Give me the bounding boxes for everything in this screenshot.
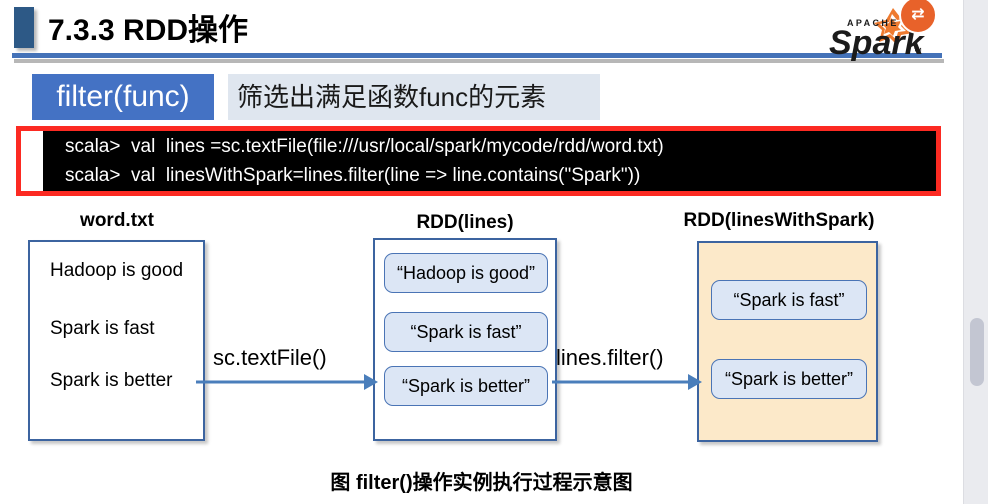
rdd-lineswithspark-title: RDD(linesWithSpark) <box>660 210 898 232</box>
rdd-lines-panel: “Hadoop is good” “Spark is fast” “Spark … <box>373 238 557 441</box>
arrow-source-to-rdd-lines <box>196 370 378 394</box>
rdd-element: “Spark is fast” <box>384 312 548 352</box>
slide-canvas: 7.3.3 RDD操作 APACHE Spark ™ ⇄ filter(func… <box>0 0 963 504</box>
scrollbar-thumb[interactable] <box>970 318 984 386</box>
filter-func-pill: filter(func) <box>32 74 214 120</box>
source-file-panel: Hadoop is good Spark is fast Spark is be… <box>28 240 205 441</box>
logo-trademark: ™ <box>913 46 922 56</box>
rdd-element: “Spark is better” <box>711 359 867 399</box>
arrow-rdd-lines-to-filtered <box>552 370 702 394</box>
vertical-scrollbar[interactable] <box>963 0 988 504</box>
filter-func-description: 筛选出满足函数func的元素 <box>228 74 600 120</box>
spark-badge-glyph: ⇄ <box>901 0 935 32</box>
source-file-title: word.txt <box>26 210 208 232</box>
code-block: scala> val lines =sc.textFile(file:///us… <box>16 126 941 196</box>
arrow-label-sc-textfile: sc.textFile() <box>213 345 327 371</box>
figure-caption: 图 filter()操作实例执行过程示意图 <box>0 466 963 495</box>
source-line: Hadoop is good <box>50 260 183 282</box>
rdd-element: “Hadoop is good” <box>384 253 548 293</box>
page-title: 7.3.3 RDD操作 <box>48 5 248 49</box>
code-line-2: scala> val linesWithSpark=lines.filter(l… <box>43 161 936 190</box>
source-line: Spark is fast <box>50 318 155 340</box>
rdd-lines-title: RDD(lines) <box>372 212 558 234</box>
code-line-1: scala> val lines =sc.textFile(file:///us… <box>43 131 936 161</box>
spark-refresh-badge-icon: ⇄ <box>899 0 937 34</box>
arrow-label-lines-filter: lines.filter() <box>556 345 664 371</box>
source-line: Spark is better <box>50 370 173 392</box>
title-accent-bar <box>14 7 34 48</box>
rdd-lineswithspark-panel: “Spark is fast” “Spark is better” <box>697 241 878 442</box>
rdd-element: “Spark is better” <box>384 366 548 406</box>
rdd-element: “Spark is fast” <box>711 280 867 320</box>
code-block-inner: scala> val lines =sc.textFile(file:///us… <box>43 131 936 191</box>
